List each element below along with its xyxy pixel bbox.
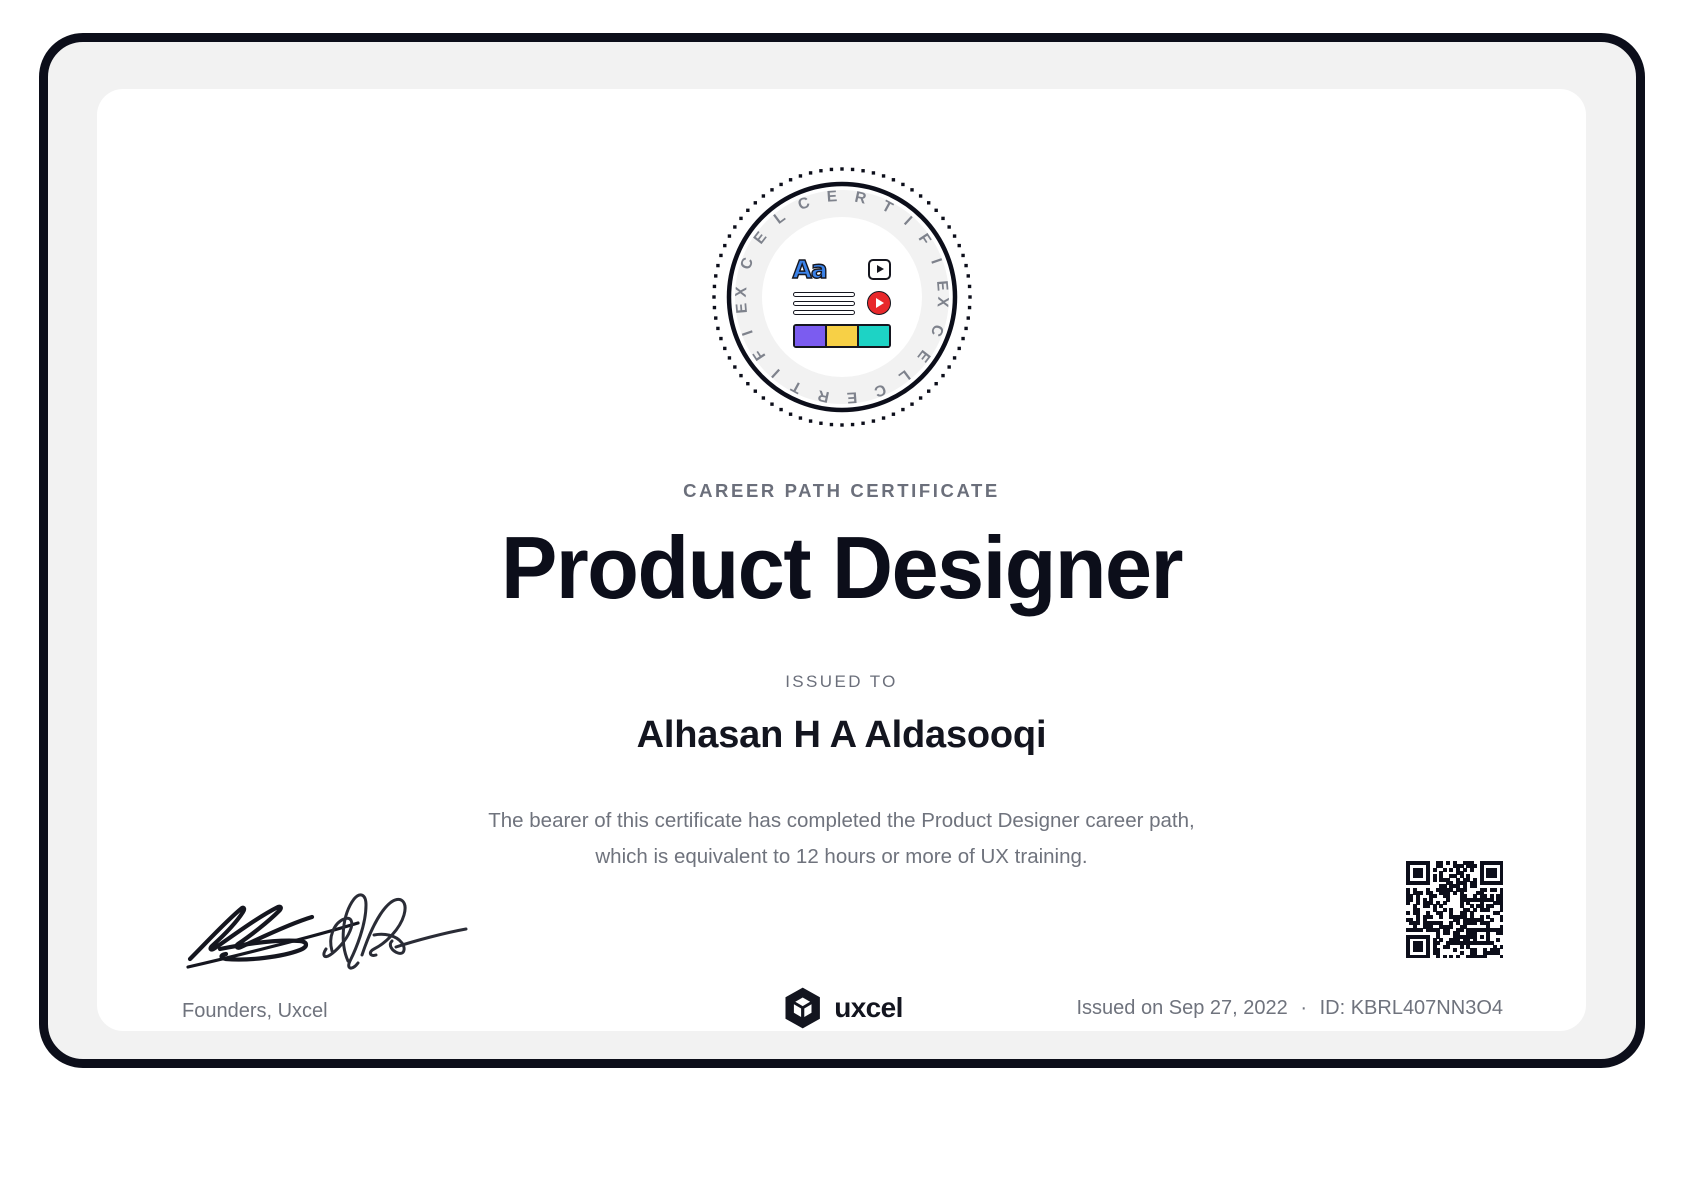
issue-metadata: Issued on Sep 27, 2022 · ID: KBRL407NN3O… bbox=[1077, 997, 1504, 1020]
play-circle-icon bbox=[867, 291, 891, 315]
description-line-1: The bearer of this certificate has compl… bbox=[488, 809, 1194, 832]
certificate-type-eyebrow: CAREER PATH CERTIFICATE bbox=[97, 480, 1586, 502]
uxcel-logo-icon bbox=[780, 986, 824, 1030]
color-swatches-icon bbox=[793, 324, 891, 348]
aa-typography-icon: Aa bbox=[793, 257, 827, 282]
certificate-outer-frame: U X C E L C E R T I F I E D U X C E L C … bbox=[39, 33, 1645, 1068]
uxcel-certified-seal: U X C E L C E R T I F I E D U X C E L C … bbox=[706, 161, 978, 433]
page-title: Product Designer bbox=[127, 519, 1556, 618]
issued-on-date: Issued on Sep 27, 2022 bbox=[1077, 997, 1288, 1019]
certificate-root: U X C E L C E R T I F I E D U X C E L C … bbox=[0, 0, 1684, 1190]
uxcel-wordmark: uxcel bbox=[834, 994, 903, 1022]
uxcel-brand-lockup: uxcel bbox=[780, 986, 903, 1030]
text-lines-icon bbox=[793, 292, 855, 315]
recipient-name: Alhasan H A Aldasooqi bbox=[97, 714, 1586, 757]
description-line-2: which is equivalent to 12 hours or more … bbox=[595, 845, 1087, 868]
issued-to-label: ISSUED TO bbox=[97, 672, 1586, 692]
meta-separator: · bbox=[1293, 997, 1314, 1019]
seal-center-glyph: Aa bbox=[793, 255, 891, 339]
verification-qr-code[interactable] bbox=[1406, 861, 1503, 958]
certificate-description: The bearer of this certificate has compl… bbox=[392, 803, 1292, 875]
certificate-id: ID: KBRL407NN3O4 bbox=[1320, 997, 1503, 1019]
play-outline-icon bbox=[868, 259, 891, 280]
certificate-inner-card: U X C E L C E R T I F I E D U X C E L C … bbox=[97, 89, 1586, 1031]
signature-caption: Founders, Uxcel bbox=[182, 1000, 328, 1023]
signature-icon bbox=[182, 891, 482, 979]
founder-signatures bbox=[182, 891, 512, 981]
